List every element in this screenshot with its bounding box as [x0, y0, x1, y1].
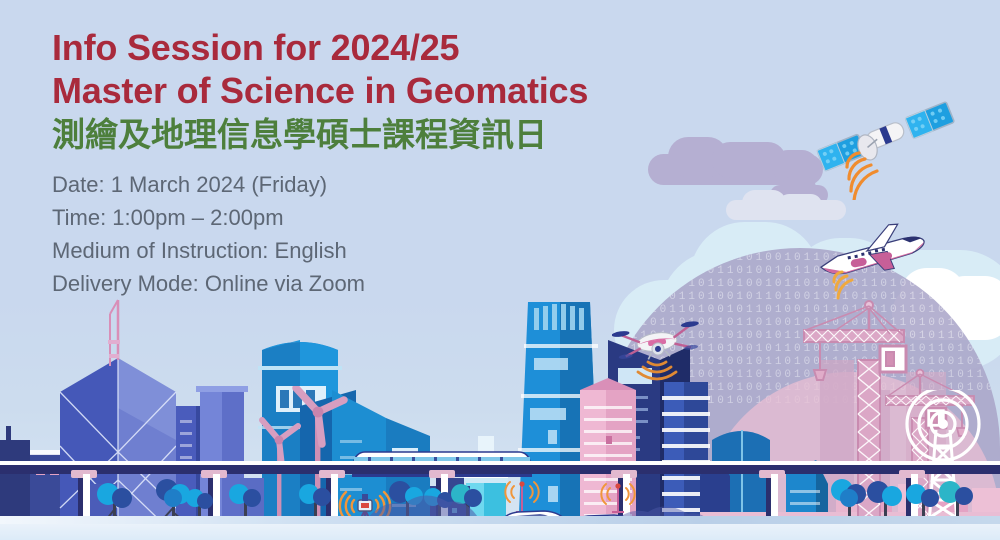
- water-strip: [0, 524, 1000, 540]
- detail-medium: Medium of Instruction: English: [52, 234, 588, 267]
- title-line-chinese: 測繪及地理信息學碩士課程資訊日: [52, 112, 588, 158]
- detail-delivery: Delivery Mode: Online via Zoom: [52, 267, 588, 300]
- poster-canvas: 1010010110100110100101101001011010010110…: [0, 0, 1000, 540]
- satellite-icon: [815, 95, 965, 200]
- poster-text-block: Info Session for 2024/25 Master of Scien…: [52, 26, 588, 300]
- title-line-1: Info Session for 2024/25: [52, 26, 588, 69]
- detail-time: Time: 1:00pm – 2:00pm: [52, 201, 588, 234]
- drone-signal-waves: [638, 362, 676, 379]
- title-line-2: Master of Science in Geomatics: [52, 69, 588, 112]
- detail-date: Date: 1 March 2024 (Friday): [52, 168, 588, 201]
- drone-icon: [612, 316, 702, 388]
